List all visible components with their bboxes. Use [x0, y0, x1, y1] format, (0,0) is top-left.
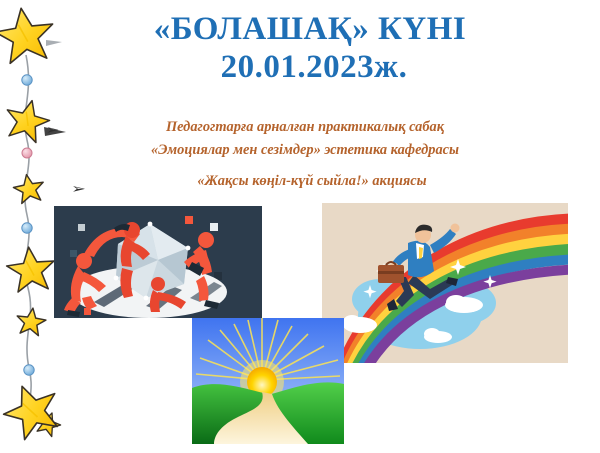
- image-teamwork-crystal: [54, 206, 262, 318]
- garland-bead-3: [22, 223, 32, 233]
- garland-bead-4: [24, 365, 34, 375]
- subtitle-block: ➢ Педагогтарға арналған практикалық саба…: [55, 116, 555, 193]
- slide-canvas: «БОЛАШАҚ» КҮНІ 20.01.2023ж. ➢ Педагогтар…: [0, 0, 600, 453]
- image-businessman-rainbow: [322, 203, 568, 363]
- garland-star-1: [0, 4, 57, 65]
- title-line-2: 20.01.2023ж.: [60, 50, 560, 85]
- subtitle-line-3: «Жақсы көңіл-күй сыйла!» акциясы: [55, 170, 555, 193]
- arrow-bullet-icon-1: ➢: [46, 119, 60, 140]
- subtitle-line-2: «Эмоциялар мен сезімдер» эстетика кафедр…: [55, 139, 555, 162]
- garland-star-5: [15, 306, 47, 336]
- arrow-bullet-icon-2: ➢: [71, 178, 86, 199]
- garland-star-6: [0, 376, 66, 443]
- garland-star-4: [5, 245, 57, 293]
- image-sunrise-path: [192, 318, 344, 444]
- subtitle-line-1: Педагогтарға арналған практикалық сабақ: [55, 116, 555, 139]
- garland-star-3: [12, 172, 46, 204]
- garland-bead-1: [22, 75, 32, 85]
- title-line-1: «БОЛАШАҚ» КҮНІ: [60, 12, 560, 47]
- garland-bead-2: [22, 148, 32, 158]
- page-title: «БОЛАШАҚ» КҮНІ 20.01.2023ж.: [60, 12, 560, 85]
